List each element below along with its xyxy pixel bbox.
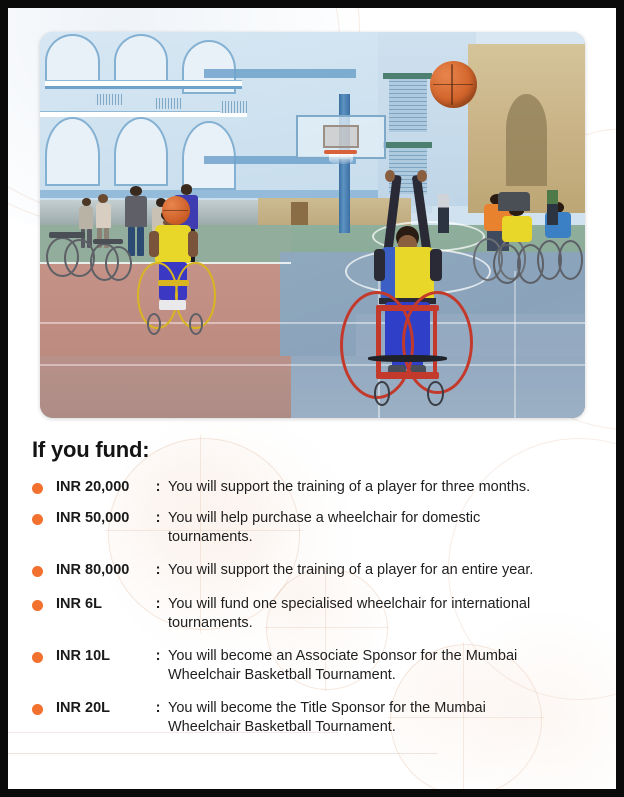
tier-amount: INR 80,000 xyxy=(56,561,151,580)
photo-balcony-rail-1 xyxy=(45,80,241,86)
photo-grille-2 xyxy=(154,98,181,110)
photo-facade-band-upper xyxy=(204,69,357,78)
tier-description: You will support the training of a playe… xyxy=(165,561,600,580)
photo-player-bg-2 xyxy=(536,202,580,279)
photo-balcony-band-1 xyxy=(45,86,241,89)
funding-tier-row: INR 80,000 : You will support the traini… xyxy=(32,561,600,580)
photo-parked-wheelchair-2 xyxy=(89,225,133,279)
bullet-dot-icon xyxy=(32,704,43,715)
tier-separator: : xyxy=(151,509,165,528)
photo-wall-band xyxy=(40,190,378,198)
hero-photo xyxy=(40,32,585,418)
photo-yellow-arch xyxy=(506,94,547,187)
tier-description: You will become the Title Sponsor for th… xyxy=(165,699,558,737)
photo-basketball-held xyxy=(162,196,190,225)
funding-tier-row: INR 10L : You will become an Associate S… xyxy=(32,647,600,685)
photo-basketball-in-air xyxy=(430,61,477,108)
bullet-dot-icon xyxy=(32,514,43,525)
tier-description: You will support the training of a playe… xyxy=(165,478,600,497)
photo-balcony-rail-2 xyxy=(40,111,247,117)
bullet-dot-icon xyxy=(32,566,43,577)
bullet-dot-icon xyxy=(32,652,43,663)
photo-player-yellow-left xyxy=(138,206,209,333)
tier-amount: INR 20,000 xyxy=(56,478,151,497)
photo-arch-1 xyxy=(45,34,100,84)
funding-tier-row: INR 6L : You will fund one specialised w… xyxy=(32,595,600,633)
tier-amount: INR 20L xyxy=(56,699,151,718)
photo-awning-2 xyxy=(383,142,432,148)
photo-grille-1 xyxy=(95,94,122,106)
photo-player-bg-1 xyxy=(492,206,541,283)
tier-description: You will help purchase a wheelchair for … xyxy=(165,509,528,547)
funding-tier-row: INR 20,000 : You will support the traini… xyxy=(32,478,600,497)
tier-amount: INR 10L xyxy=(56,647,151,666)
photo-awning xyxy=(383,73,432,79)
photo-bystander-right xyxy=(438,194,449,233)
tier-separator: : xyxy=(151,699,165,718)
photo-arch-2 xyxy=(114,34,169,84)
funding-tier-row: INR 20L : You will become the Title Spon… xyxy=(32,699,600,737)
bullet-dot-icon xyxy=(32,600,43,611)
photo-window-row xyxy=(389,78,427,132)
photo-parked-wheelchair-1 xyxy=(45,217,94,275)
photo-hoop-net xyxy=(329,154,353,164)
page-title: If you fund: xyxy=(32,437,149,463)
watermark-hairline-1 xyxy=(8,753,438,754)
photo-court-line-5 xyxy=(514,271,516,418)
photo-court-line-2 xyxy=(40,322,585,324)
tier-amount: INR 50,000 xyxy=(56,509,151,528)
photo-main-wheelchair-caster-2 xyxy=(427,381,444,406)
tier-description: You will become an Associate Sponsor for… xyxy=(165,647,568,685)
photo-backboard-square xyxy=(323,125,358,148)
photo-arch-4 xyxy=(45,117,100,186)
tier-separator: : xyxy=(151,647,165,666)
tier-separator: : xyxy=(151,478,165,497)
tier-separator: : xyxy=(151,595,165,614)
photo-bystander-far-right xyxy=(547,190,558,225)
tier-amount: INR 6L xyxy=(56,595,151,614)
photo-arch-5 xyxy=(114,117,169,186)
photo-grille-3 xyxy=(220,101,247,113)
bullet-dot-icon xyxy=(32,483,43,494)
tier-description: You will fund one specialised wheelchair… xyxy=(165,595,588,633)
photo-main-player xyxy=(345,175,487,407)
funding-tier-row: INR 50,000 : You will help purchase a wh… xyxy=(32,509,600,547)
photo-court-line-3 xyxy=(40,364,585,366)
photo-main-wheelchair-caster-1 xyxy=(374,381,391,406)
tier-separator: : xyxy=(151,561,165,580)
poster-page: If you fund: INR 20,000 : You will suppo… xyxy=(8,8,616,789)
funding-tier-list: INR 20,000 : You will support the traini… xyxy=(32,478,600,749)
photo-parked-vehicle xyxy=(498,192,531,211)
